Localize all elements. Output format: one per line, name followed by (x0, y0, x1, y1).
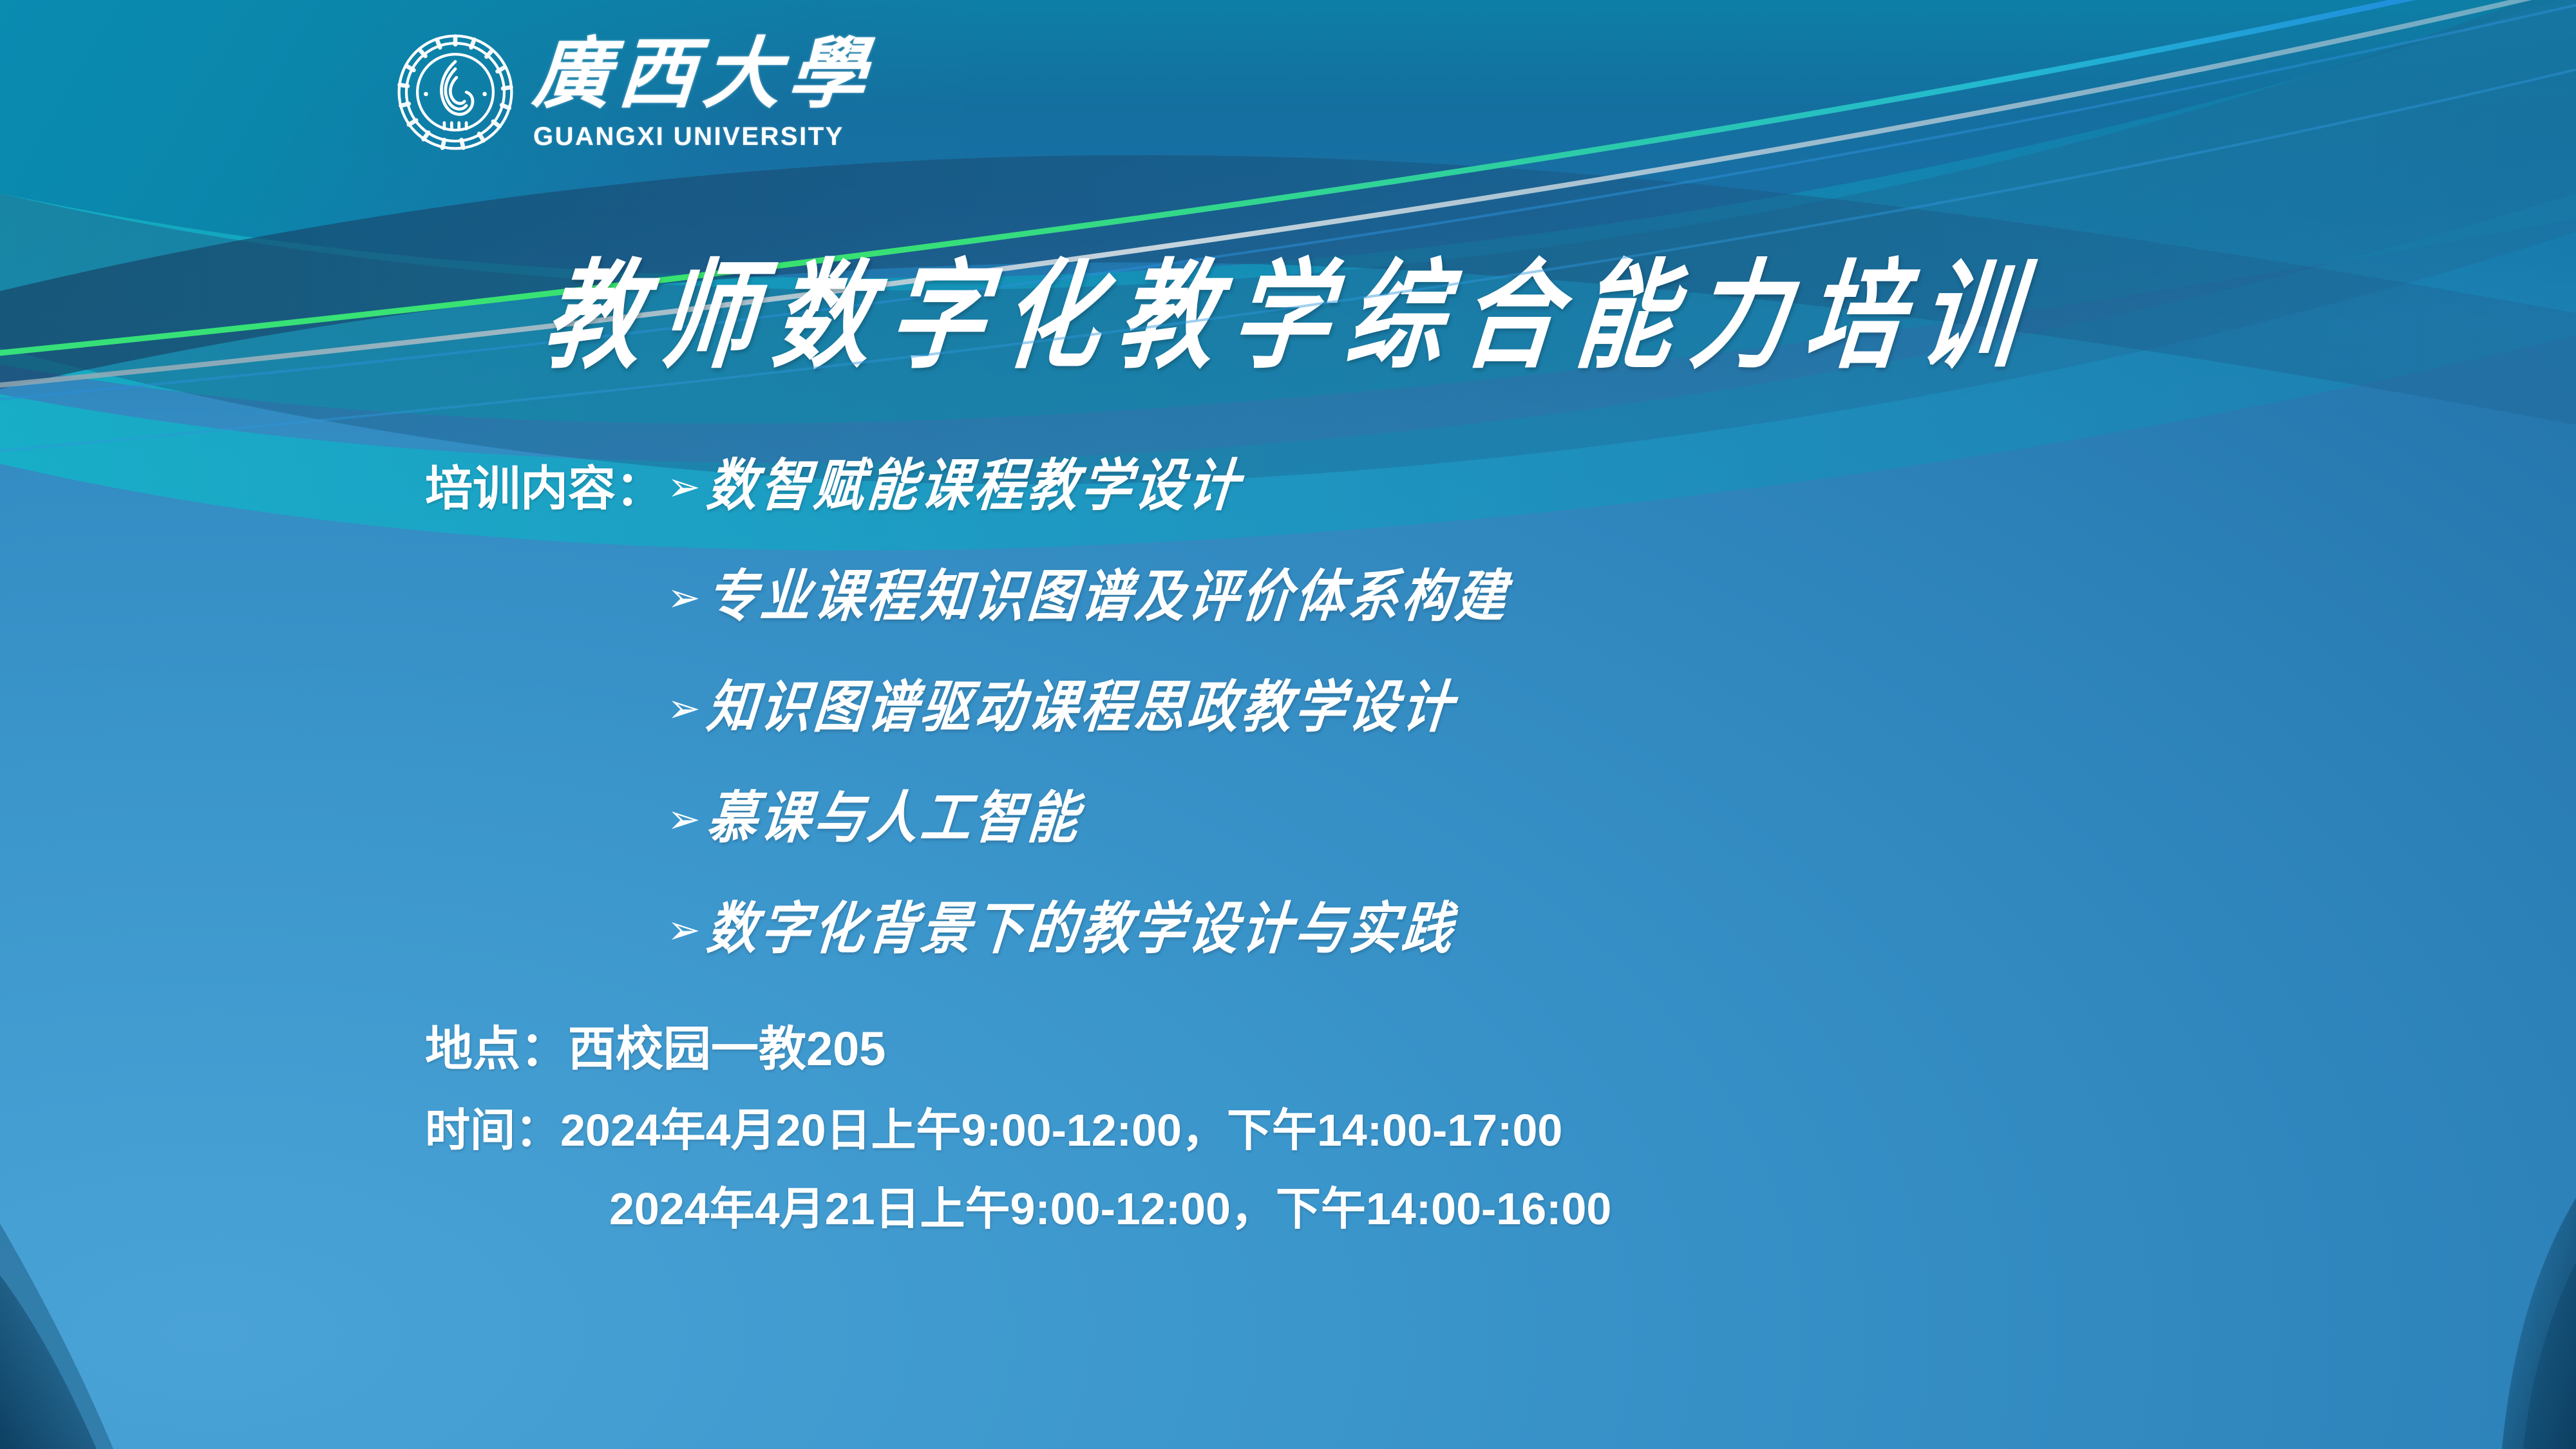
training-content-label: 培训内容： (425, 461, 667, 513)
training-poster-slide: 廣西大學 GUANGXI UNIVERSITY 教师数字化教学综合能力培训 培训… (0, 0, 2576, 1449)
list-item: ➢ 数字化背景下的教学设计与实践 (667, 904, 2421, 1015)
list-item: ➢ 知识图谱驱动课程思政教学设计 (667, 683, 2421, 793)
time-line-day-one: 时间：2024年4月20日上午9:00-12:00，下午14:00-17:00 (425, 1108, 2421, 1153)
bullet-arrow-icon: ➢ (667, 800, 707, 840)
logo-wordmark: 廣西大學 GUANGXI UNIVERSITY (533, 36, 873, 151)
place-line: 地点：西校园一教205 (425, 1025, 885, 1073)
list-item: ➢ 慕课与人工智能 (667, 793, 2421, 904)
list-item-label: 专业课程知识图谱及评价体系构建 (705, 569, 1511, 625)
list-item: ➢ 专业课程知识图谱及评价体系构建 (667, 572, 2421, 683)
logo-english-name: GUANGXI UNIVERSITY (533, 122, 844, 151)
bullet-arrow-icon: ➢ (667, 911, 707, 951)
time-section: 时间：2024年4月20日上午9:00-12:00，下午14:00-17:00 … (425, 1108, 2421, 1231)
list-item-label: 知识图谱驱动课程思政教学设计 (705, 679, 1458, 735)
time-line-day-two: 2024年4月21日上午9:00-12:00，下午14:00-16:00 (425, 1186, 2421, 1231)
page-title: 教师数字化教学综合能力培训 (0, 256, 2576, 380)
training-topic-list: ➢ 数智赋能课程教学设计 ➢ 专业课程知识图谱及评价体系构建 ➢ 知识图谱驱动课… (667, 461, 2421, 1015)
bullet-arrow-icon: ➢ (667, 689, 707, 729)
bullet-arrow-icon: ➢ (667, 468, 707, 507)
university-logo: 廣西大學 GUANGXI UNIVERSITY (394, 31, 873, 156)
list-item: ➢ 数智赋能课程教学设计 (667, 461, 2421, 572)
training-content-section: 培训内容： ➢ 数智赋能课程教学设计 ➢ 专业课程知识图谱及评价体系构建 ➢ 知… (425, 461, 2421, 1015)
list-item-label: 数智赋能课程教学设计 (705, 458, 1244, 514)
poster-body: 培训内容： ➢ 数智赋能课程教学设计 ➢ 专业课程知识图谱及评价体系构建 ➢ 知… (425, 461, 2421, 1231)
bullet-arrow-icon: ➢ (667, 578, 707, 618)
list-item-label: 慕课与人工智能 (705, 790, 1084, 846)
place-section: 地点：西校园一教205 (425, 1025, 2421, 1073)
guangxi-university-seal-icon (394, 31, 516, 156)
logo-chinese-name: 廣西大學 (531, 36, 876, 113)
list-item-label: 数字化背景下的教学设计与实践 (705, 901, 1458, 957)
